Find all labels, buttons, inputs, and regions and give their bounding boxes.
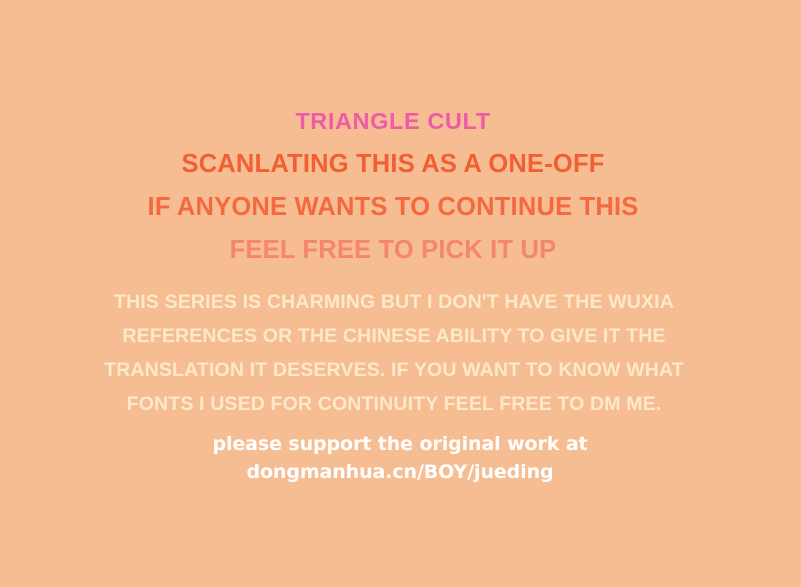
support-note: please support the original work at dong… — [0, 430, 800, 486]
group-title: TRIANGLE CULT — [0, 100, 786, 143]
original-work-url[interactable]: dongmanhua.cn/BOY/jueding — [0, 458, 800, 486]
body-line-2: REFERENCES OR THE CHINESE ABILITY TO GIV… — [0, 319, 788, 353]
body-line-1: THIS SERIES IS CHARMING BUT I DON'T HAVE… — [0, 285, 788, 319]
support-note-label: please support the original work at — [0, 430, 800, 458]
headline-group: TRIANGLE CULT SCANLATING THIS AS A ONE-O… — [0, 100, 786, 272]
headline-line-scanlating: SCANLATING THIS AS A ONE-OFF — [0, 143, 786, 186]
body-line-3: TRANSLATION IT DESERVES. IF YOU WANT TO … — [0, 353, 788, 387]
body-paragraph: THIS SERIES IS CHARMING BUT I DON'T HAVE… — [0, 285, 788, 421]
headline-line-pick-it-up: FEEL FREE TO PICK IT UP — [0, 229, 786, 272]
body-line-4: FONTS I USED FOR CONTINUITY FEEL FREE TO… — [0, 387, 788, 421]
credits-page: TRIANGLE CULT SCANLATING THIS AS A ONE-O… — [0, 0, 801, 587]
headline-line-continue: IF ANYONE WANTS TO CONTINUE THIS — [0, 186, 786, 229]
